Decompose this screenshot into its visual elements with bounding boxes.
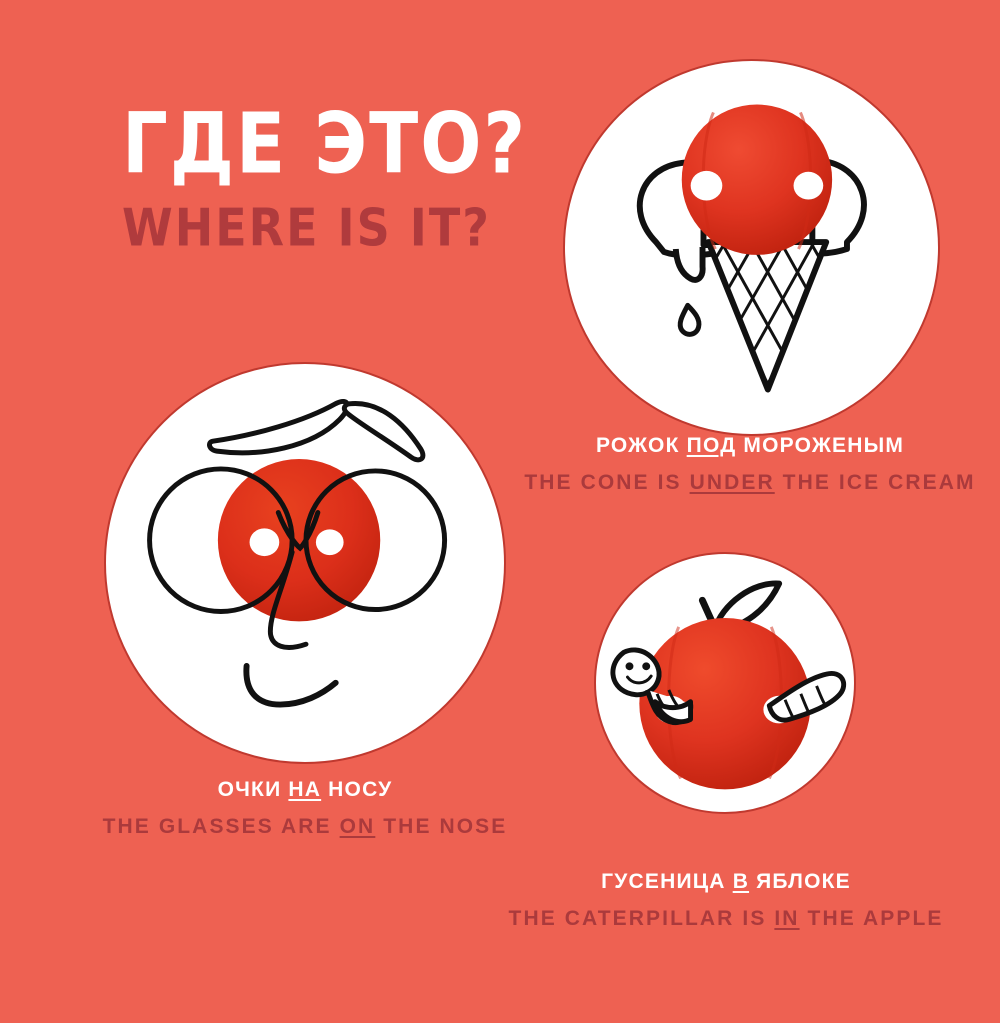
caption-highlight: UNDER [690, 471, 775, 494]
caption-text: THE ICE CREAM [775, 471, 976, 494]
caption-apple: ГУСЕНИЦА В ЯБЛОКЕ THE CATERPILLAR IS IN … [497, 870, 955, 931]
caption-highlight: НА [288, 778, 321, 801]
caption-text: THE CATERPILLAR IS [509, 907, 775, 930]
caption-text: ОЧКИ [218, 778, 289, 801]
caption-highlight: IN [774, 907, 799, 930]
page-title-russian: ГДЕ ЭТО? [122, 104, 542, 183]
poster-canvas: ГДЕ ЭТО? WHERE IS IT? [0, 0, 1000, 1023]
caption-text: THE CONE IS [524, 471, 689, 494]
illustration-ice-cream [563, 59, 940, 436]
caption-highlight: ON [340, 815, 376, 838]
caption-text: ГУСЕНИЦА [601, 870, 733, 893]
title-block: ГДЕ ЭТО? WHERE IS IT? [122, 104, 542, 248]
caption-glasses: ОЧКИ НА НОСУ THE GLASSES ARE ON THE NOSE [70, 778, 540, 839]
page-title-english: WHERE IS IT? [122, 202, 542, 254]
caption-text: МОРОЖЕНЫМ [736, 434, 904, 457]
caption-apple-english: THE CATERPILLAR IS IN THE APPLE [497, 907, 955, 931]
caption-glasses-russian: ОЧКИ НА НОСУ [70, 778, 540, 802]
caption-text: НОСУ [321, 778, 392, 801]
caption-ice-cream: РОЖОК ПОД МОРОЖЕНЫМ THE CONE IS UNDER TH… [513, 434, 987, 495]
caption-highlight: ПОД [687, 434, 737, 457]
caption-text: ЯБЛОКЕ [749, 870, 851, 893]
caption-apple-russian: ГУСЕНИЦА В ЯБЛОКЕ [497, 870, 955, 894]
caption-highlight: В [733, 870, 749, 893]
caption-ice-cream-english: THE CONE IS UNDER THE ICE CREAM [513, 471, 987, 495]
illustration-apple-caterpillar [594, 552, 856, 814]
caption-text: THE APPLE [800, 907, 944, 930]
illustration-face-glasses [104, 362, 506, 764]
caption-glasses-english: THE GLASSES ARE ON THE NOSE [70, 815, 540, 839]
caption-text: РОЖОК [596, 434, 687, 457]
caption-ice-cream-russian: РОЖОК ПОД МОРОЖЕНЫМ [513, 434, 987, 458]
caption-text: THE NOSE [375, 815, 507, 838]
caption-text: THE GLASSES ARE [103, 815, 340, 838]
